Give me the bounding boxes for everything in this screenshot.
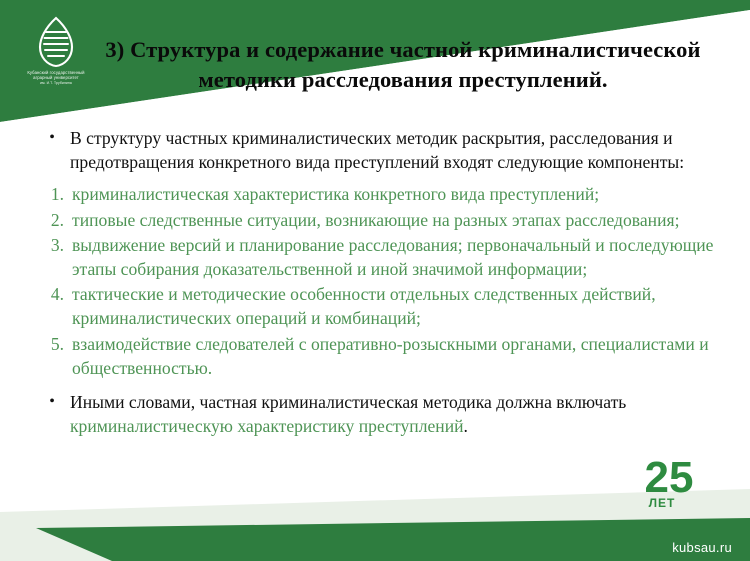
badge-number: 25 <box>645 453 694 502</box>
list-item-text: тактические и методические особенности о… <box>72 282 714 330</box>
list-item: • В структуру частных криминалистических… <box>0 126 750 174</box>
list-item: 5. взаимодействие следователей с операти… <box>0 332 750 380</box>
bullet-dot-icon: • <box>34 126 70 150</box>
bullet-dot-icon: • <box>34 390 70 414</box>
outro-bullet-text: Иными словами, частная криминалистическа… <box>70 390 714 438</box>
intro-bullet-text: В структуру частных криминалистических м… <box>70 126 714 174</box>
bottom-green-wedge <box>36 518 750 561</box>
list-marker: 1. <box>34 182 72 206</box>
outro-text-highlight: криминалистическую характеристику престу… <box>70 416 464 436</box>
list-item: 4. тактические и методические особенност… <box>0 282 750 330</box>
slide-body: • В структуру частных криминалистических… <box>0 126 750 442</box>
logo-caption-line2: аграрный университет <box>33 75 79 80</box>
list-marker: 3. <box>34 233 72 257</box>
outro-bullet-list: • Иными словами, частная криминалистичес… <box>0 390 750 438</box>
leaf-emblem-icon <box>34 16 78 68</box>
list-item-text: типовые следственные ситуации, возникающ… <box>72 208 714 232</box>
anniversary-badge: 25 ЛЕТ <box>632 451 706 513</box>
badge-label: ЛЕТ <box>649 496 676 510</box>
footer-website-url[interactable]: kubsau.ru <box>672 540 732 555</box>
numbered-component-list: 1. криминалистическая характеристика кон… <box>0 182 750 380</box>
outro-text-after: . <box>464 416 468 436</box>
list-item: 1. криминалистическая характеристика кон… <box>0 182 750 206</box>
list-item: 2. типовые следственные ситуации, возник… <box>0 208 750 232</box>
slide-header: Кубанский государственный аграрный униве… <box>0 0 750 122</box>
list-item: 3. выдвижение версий и планирование расс… <box>0 233 750 281</box>
list-marker: 4. <box>34 282 72 306</box>
list-marker: 5. <box>34 332 72 356</box>
outro-text-before: Иными словами, частная криминалистическа… <box>70 392 626 412</box>
university-logo: Кубанский государственный аграрный униве… <box>26 16 86 92</box>
list-item-text: выдвижение версий и планирование расслед… <box>72 233 714 281</box>
anniversary-25-icon: 25 ЛЕТ <box>632 451 706 513</box>
list-marker: 2. <box>34 208 72 232</box>
list-item-text: взаимодействие следователей с оперативно… <box>72 332 714 380</box>
intro-bullet-list: • В структуру частных криминалистических… <box>0 126 750 174</box>
presentation-slide: Кубанский государственный аграрный униве… <box>0 0 750 561</box>
list-item-text: криминалистическая характеристика конкре… <box>72 182 714 206</box>
list-item: • Иными словами, частная криминалистичес… <box>0 390 750 438</box>
slide-title: 3) Структура и содержание частной кримин… <box>78 35 728 95</box>
